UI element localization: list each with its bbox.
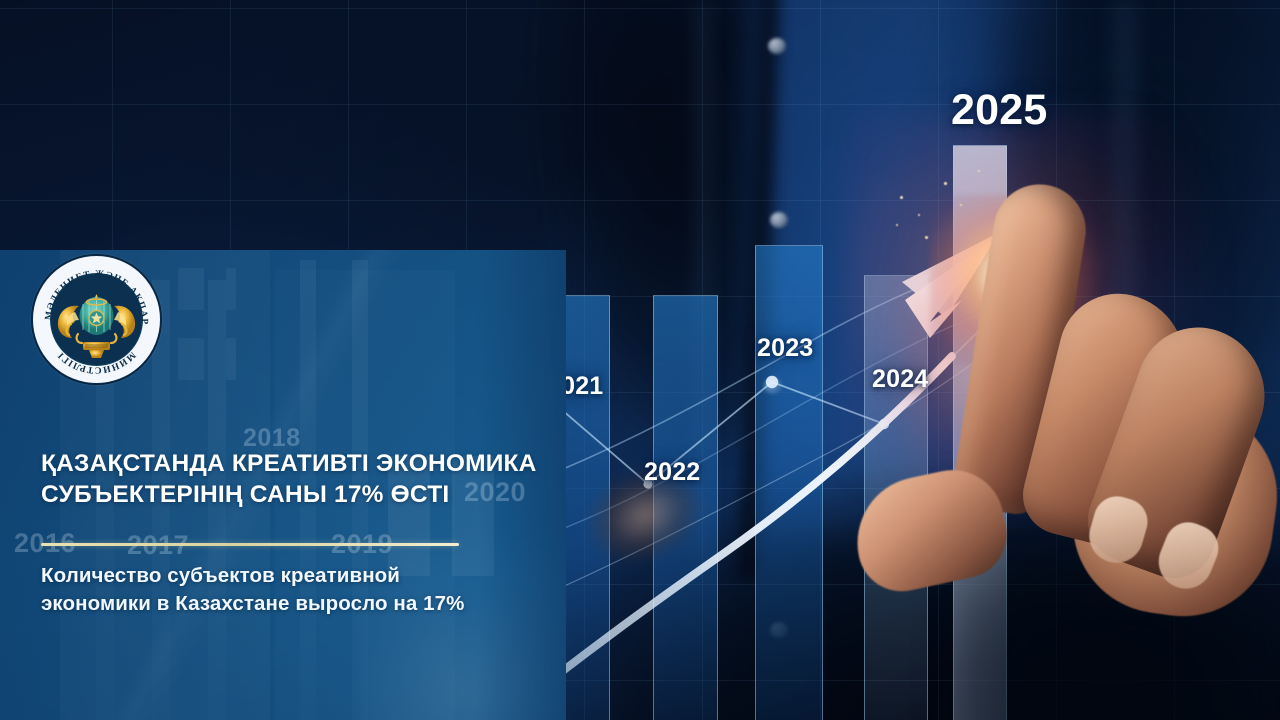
spark-particle <box>978 170 980 172</box>
page-subtitle: Количество субъектов креативной экономик… <box>41 562 551 619</box>
subhead-line-2: экономики в Казахстане выросло на 17% <box>41 590 551 618</box>
page-title: ҚАЗАҚСТАНДА КРЕАТИВТІ ЭКОНОМИКА СУБЪЕКТЕ… <box>41 448 561 511</box>
pointing-hand <box>965 175 1280 720</box>
headline-line-2: СУБЪЕКТЕРІНІҢ САНЫ 17% ӨСТІ <box>41 479 561 510</box>
spark-particle <box>960 204 962 206</box>
chart-year-label-2023: 2023 <box>757 334 813 363</box>
spark-particle <box>944 182 947 185</box>
subhead-line-1: Количество субъектов креативной <box>41 562 551 590</box>
spark-particle <box>925 236 928 239</box>
chart-year-label-2024: 2024 <box>872 365 928 394</box>
spark-particle <box>900 196 903 199</box>
chart-year-label-2022: 2022 <box>644 458 700 487</box>
spark-particle <box>918 214 920 216</box>
line-node-2023 <box>766 376 778 388</box>
gold-divider <box>41 543 459 546</box>
spark-particle <box>896 224 898 226</box>
infographic-card: 2025 2021 2022 2023 2024 2016 2017 2018 … <box>0 0 1280 720</box>
ministry-emblem: ҚР МӘДЕНИЕТ ЖӘНЕ АҚПАРАТ МИНИСТРЛІГІ <box>31 254 162 385</box>
headline-line-1: ҚАЗАҚСТАНДА КРЕАТИВТІ ЭКОНОМИКА <box>41 448 561 479</box>
chart-year-label-2025: 2025 <box>951 86 1047 135</box>
